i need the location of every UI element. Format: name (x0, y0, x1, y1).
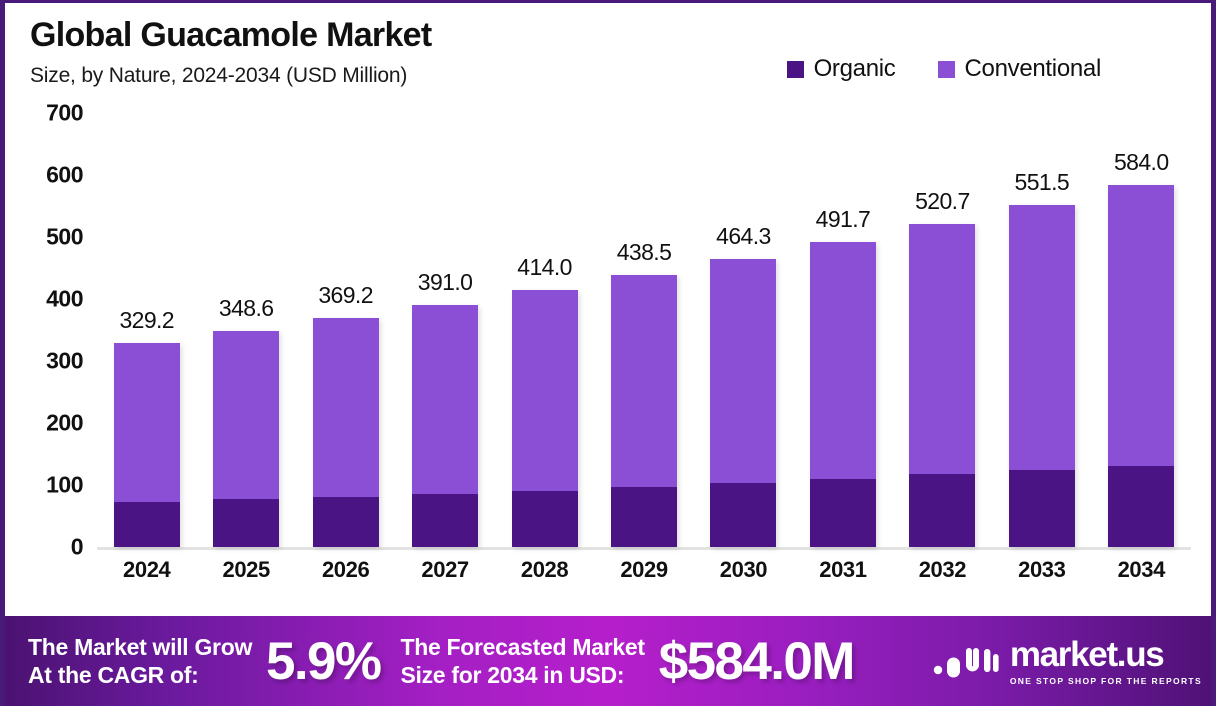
forecast-value: $584.0M (659, 631, 854, 692)
bar-group-2030[interactable]: 464.3 (710, 259, 776, 547)
legend-item-organic[interactable]: Organic (787, 55, 896, 83)
bar-segment-organic-2024[interactable] (114, 502, 180, 547)
x-axis: 2024202520262027202820292030203120322033… (97, 557, 1191, 597)
x-axis-tick-2029: 2029 (599, 557, 689, 583)
chart-header: Global Guacamole Market Size, by Nature,… (5, 3, 1211, 113)
bar-segment-conventional-2026[interactable] (313, 318, 379, 497)
bar-value-label-2027: 391.0 (418, 269, 473, 296)
bar-segment-conventional-2032[interactable] (909, 224, 975, 474)
cagr-caption: The Market will Grow At the CAGR of: (28, 633, 252, 689)
bar-stack-2024[interactable] (114, 343, 180, 547)
bar-segment-conventional-2028[interactable] (512, 290, 578, 490)
bar-stack-2026[interactable] (313, 318, 379, 547)
bar-segment-organic-2031[interactable] (810, 479, 876, 547)
bar-stack-2033[interactable] (1009, 205, 1075, 547)
x-axis-tick-2032: 2032 (897, 557, 987, 583)
market-us-wave-logo-icon (933, 641, 999, 681)
x-axis-tick-2026: 2026 (301, 557, 391, 583)
bar-stack-2029[interactable] (611, 275, 677, 547)
bar-segment-organic-2029[interactable] (611, 487, 677, 547)
cagr-caption-line2: At the CAGR of: (28, 662, 199, 688)
y-axis-tick-600: 600 (46, 162, 83, 189)
bar-group-2034[interactable]: 584.0 (1108, 185, 1174, 547)
bar-value-label-2033: 551.5 (1015, 169, 1070, 196)
x-axis-tick-2024: 2024 (102, 557, 192, 583)
square-swatch-icon (938, 61, 955, 78)
bar-group-2031[interactable]: 491.7 (810, 242, 876, 547)
bar-group-2026[interactable]: 369.2 (313, 318, 379, 547)
square-swatch-icon (787, 61, 804, 78)
bar-segment-conventional-2027[interactable] (412, 305, 478, 494)
bar-stack-2025[interactable] (213, 331, 279, 547)
bar-segment-organic-2025[interactable] (213, 499, 279, 547)
legend-item-conventional[interactable]: Conventional (938, 55, 1102, 83)
title-block: Global Guacamole Market Size, by Nature,… (30, 17, 431, 88)
brand-text: market.us ONE STOP SHOP FOR THE REPORTS (1010, 637, 1202, 686)
bar-segment-conventional-2029[interactable] (611, 275, 677, 487)
brand-logo[interactable]: market.us ONE STOP SHOP FOR THE REPORTS (933, 637, 1202, 686)
chart-legend: Organic Conventional (787, 55, 1101, 83)
brand-tagline: ONE STOP SHOP FOR THE REPORTS (1010, 676, 1202, 686)
cagr-caption-line1: The Market will Grow (28, 634, 252, 660)
y-axis-tick-700: 700 (46, 100, 83, 127)
y-axis-tick-0: 0 (71, 534, 83, 561)
x-axis-tick-2030: 2030 (698, 557, 788, 583)
footer-banner: The Market will Grow At the CAGR of: 5.9… (0, 616, 1216, 706)
y-axis-tick-400: 400 (46, 286, 83, 313)
bar-segment-organic-2033[interactable] (1009, 470, 1075, 547)
bar-value-label-2032: 520.7 (915, 188, 970, 215)
bar-segment-conventional-2030[interactable] (710, 259, 776, 483)
forecast-caption: The Forecasted Market Size for 2034 in U… (400, 633, 644, 689)
brand-name: market.us (1010, 637, 1202, 672)
x-axis-tick-2034: 2034 (1096, 557, 1186, 583)
bar-stack-2031[interactable] (810, 242, 876, 547)
bar-stack-2027[interactable] (412, 305, 478, 547)
bar-value-label-2028: 414.0 (517, 254, 572, 281)
bar-group-2024[interactable]: 329.2 (114, 343, 180, 547)
bar-stack-2030[interactable] (710, 259, 776, 547)
forecast-caption-line1: The Forecasted Market (400, 634, 644, 660)
bar-segment-conventional-2031[interactable] (810, 242, 876, 479)
bar-stack-2032[interactable] (909, 224, 975, 547)
bar-group-2029[interactable]: 438.5 (611, 275, 677, 547)
y-axis-tick-500: 500 (46, 224, 83, 251)
x-axis-tick-2028: 2028 (500, 557, 590, 583)
legend-label-organic: Organic (814, 55, 896, 83)
bar-segment-conventional-2033[interactable] (1009, 205, 1075, 470)
plot-area: 7006005004003002001000 329.2348.6369.239… (5, 113, 1211, 603)
bar-value-label-2026: 369.2 (318, 282, 373, 309)
legend-label-conventional: Conventional (965, 55, 1102, 83)
y-axis-tick-200: 200 (46, 410, 83, 437)
bar-segment-organic-2032[interactable] (909, 474, 975, 547)
page-title: Global Guacamole Market (30, 17, 431, 54)
bar-value-label-2024: 329.2 (119, 307, 174, 334)
x-axis-tick-2031: 2031 (798, 557, 888, 583)
x-axis-baseline (97, 547, 1191, 550)
bar-value-label-2034: 584.0 (1114, 149, 1169, 176)
forecast-caption-line2: Size for 2034 in USD: (400, 662, 624, 688)
bar-segment-organic-2027[interactable] (412, 494, 478, 547)
x-axis-tick-2027: 2027 (400, 557, 490, 583)
bar-stack-2034[interactable] (1108, 185, 1174, 547)
bar-segment-conventional-2034[interactable] (1108, 185, 1174, 466)
bar-value-label-2030: 464.3 (716, 223, 771, 250)
page-subtitle: Size, by Nature, 2024-2034 (USD Million) (30, 64, 431, 88)
bar-value-label-2025: 348.6 (219, 295, 274, 322)
bar-group-2028[interactable]: 414.0 (512, 290, 578, 547)
infographic-root: Global Guacamole Market Size, by Nature,… (0, 0, 1216, 706)
y-axis-tick-300: 300 (46, 348, 83, 375)
bar-stack-2028[interactable] (512, 290, 578, 547)
bar-value-label-2029: 438.5 (617, 239, 672, 266)
bar-segment-organic-2028[interactable] (512, 491, 578, 547)
bar-group-2033[interactable]: 551.5 (1009, 205, 1075, 547)
bar-segment-organic-2026[interactable] (313, 497, 379, 547)
bar-segment-conventional-2024[interactable] (114, 343, 180, 502)
bar-group-2032[interactable]: 520.7 (909, 224, 975, 547)
y-axis-tick-100: 100 (46, 472, 83, 499)
bar-segment-organic-2030[interactable] (710, 483, 776, 547)
y-axis: 7006005004003002001000 (5, 113, 93, 553)
x-axis-tick-2025: 2025 (201, 557, 291, 583)
x-axis-tick-2033: 2033 (997, 557, 1087, 583)
bar-group-2027[interactable]: 391.0 (412, 305, 478, 547)
cagr-value: 5.9% (266, 631, 380, 692)
bar-series-container: 329.2348.6369.2391.0414.0438.5464.3491.7… (97, 113, 1191, 547)
bar-group-2025[interactable]: 348.6 (213, 331, 279, 547)
bar-value-label-2031: 491.7 (816, 206, 871, 233)
bar-segment-conventional-2025[interactable] (213, 331, 279, 499)
bar-segment-organic-2034[interactable] (1108, 466, 1174, 547)
